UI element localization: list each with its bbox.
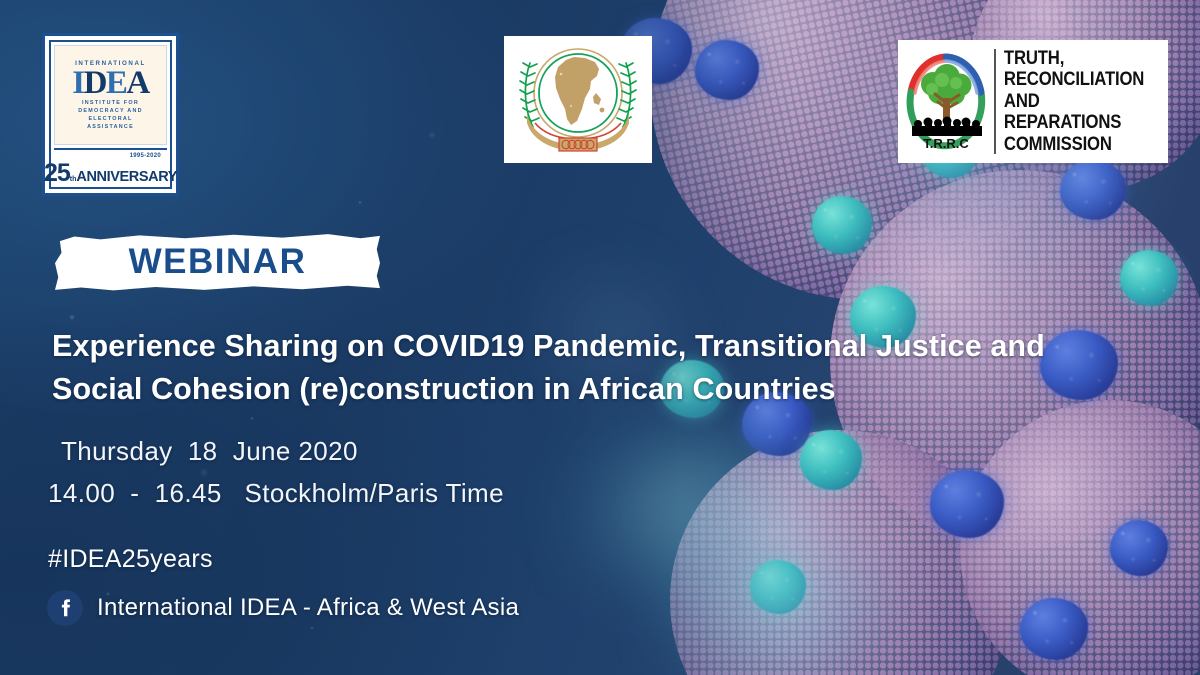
trrc-tree-icon: T.R.R.C — [902, 50, 990, 154]
event-time: 14.00 - 16.45 Stockholm/Paris Time — [48, 472, 504, 514]
spike-protein — [812, 196, 872, 254]
spike-protein — [1020, 598, 1088, 660]
spike-protein — [750, 560, 806, 614]
logo-international-idea: INTERNATIONAL IDEA INSTITUTE FORDEMOCRAC… — [42, 33, 179, 196]
idea-wordmark: IDEA — [72, 68, 149, 99]
spike-protein — [1120, 250, 1178, 306]
anniversary-ordinal: th — [70, 176, 77, 183]
spike-protein — [930, 470, 1004, 538]
logo-trrc: T.R.R.C TRUTH,RECONCILIATIONAND REPARATI… — [898, 40, 1168, 163]
idea-subtitle: INSTITUTE FORDEMOCRACY ANDELECTORALASSIS… — [78, 100, 142, 131]
facebook-icon[interactable] — [47, 590, 83, 626]
event-schedule: Thursday 18 June 2020 14.00 - 16.45 Stoc… — [48, 430, 504, 514]
webinar-poster: INTERNATIONAL IDEA INSTITUTE FORDEMOCRAC… — [0, 0, 1200, 675]
social-handle[interactable]: International IDEA - Africa & West Asia — [47, 590, 519, 626]
facebook-page-name: International IDEA - Africa & West Asia — [97, 594, 519, 622]
webinar-banner: WEBINAR — [55, 233, 380, 291]
anniversary-years: 1995-2020 — [130, 153, 161, 159]
spike-protein — [800, 430, 862, 490]
logo-african-union — [504, 36, 652, 163]
event-hashtag: #IDEA25years — [48, 545, 213, 574]
trrc-emblem: T.R.R.C — [898, 40, 994, 163]
african-union-emblem-icon — [511, 43, 645, 157]
trrc-full-name: TRUTH,RECONCILIATIONAND REPARATIONSCOMMI… — [996, 40, 1148, 163]
event-date: Thursday 18 June 2020 — [48, 430, 504, 472]
trrc-acronym: T.R.R.C — [923, 136, 969, 151]
idea-logo-card: INTERNATIONAL IDEA INSTITUTE FORDEMOCRAC… — [54, 45, 167, 145]
event-title: Experience Sharing on COVID19 Pandemic, … — [52, 325, 1112, 412]
spike-protein — [1060, 160, 1126, 220]
spike-protein — [1110, 520, 1168, 576]
spike-protein — [695, 40, 759, 100]
idea-logo-frame: INTERNATIONAL IDEA INSTITUTE FORDEMOCRAC… — [49, 40, 172, 189]
anniversary-number: 25 — [44, 163, 70, 183]
banner-label: WEBINAR — [55, 233, 380, 291]
idea-anniversary-block: 1995-2020 25 th ANNIVERSARY — [54, 148, 167, 184]
anniversary-word: ANNIVERSARY — [76, 171, 177, 183]
